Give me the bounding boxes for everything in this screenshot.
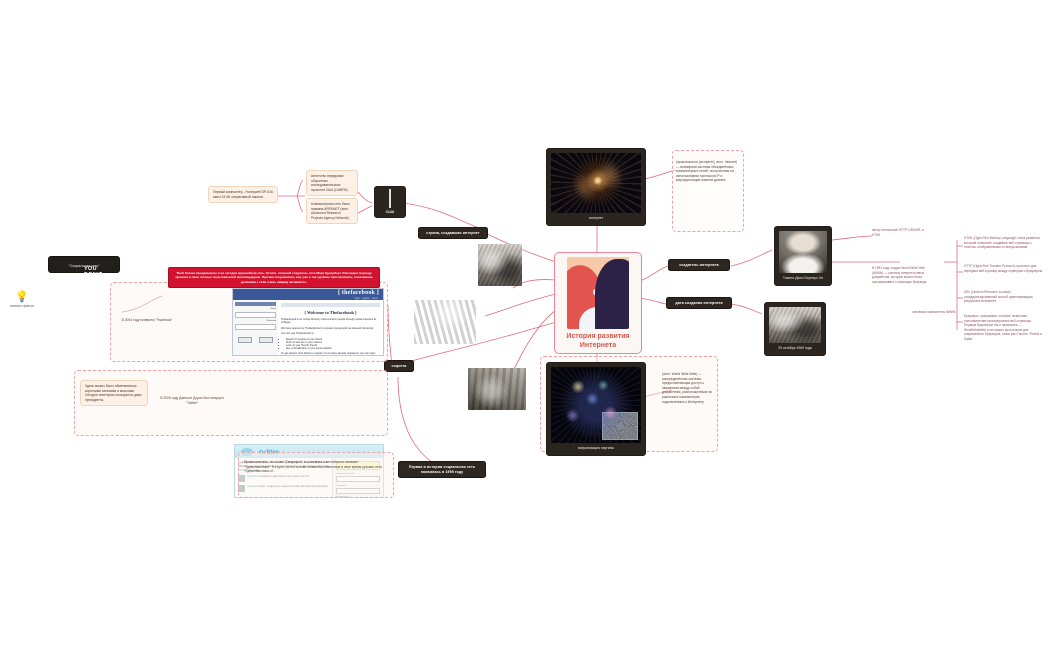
usa-flag-icon: [389, 189, 391, 208]
creator-inventor-note: автор технологий HTTP, URI/URL и HTML: [872, 228, 928, 237]
www-description: (англ. World Wide Web) — распределённая …: [662, 372, 714, 404]
branch-label-country[interactable]: страна, создавшая интернет: [418, 227, 488, 239]
fb-heading: [ Welcome to Thefacebook ]: [281, 310, 380, 315]
network-photo-node[interactable]: визуализация паутины: [546, 362, 646, 456]
lightbulb-icon: 💡: [10, 292, 34, 303]
first-social-note: Примечательно, но слово "Смартфон" в соч…: [244, 460, 386, 474]
fb-paragraph-3: You can use Thefacebook to:: [281, 332, 380, 335]
facebook-note: В 2004 году появился "Facebook": [116, 318, 178, 323]
branch-label-date[interactable]: дата создания интернета: [666, 297, 732, 309]
internet-map-image: [551, 367, 641, 443]
tim-berners-lee-portrait: [779, 231, 827, 273]
facebook-screenshot[interactable]: [ thefacebook ] login · register · about…: [232, 288, 384, 356]
component-browsers: Браузеры, программы, которые позволяют п…: [964, 314, 1044, 342]
network-caption: визуализация паутины: [551, 446, 641, 451]
branch-label-creator[interactable]: создатель интернета: [668, 259, 730, 271]
first-social-frame: [238, 452, 394, 498]
fb-header: [ thefacebook ] login · register · about: [233, 289, 383, 300]
fb-login-button[interactable]: [238, 337, 252, 344]
photo-team-1[interactable]: [478, 244, 522, 286]
blog-note: Здесь можно было обмениваться короткими …: [80, 380, 148, 406]
creator-photo-node[interactable]: Тимоти Джон Бернерс-Ли: [774, 226, 832, 286]
central-illustration: [567, 257, 629, 329]
first-computer-note: Первый компьютер - Honeywell DP-516 имел…: [208, 186, 278, 203]
hint-note: 💡 немного фактов: [10, 292, 34, 308]
social-network-poster[interactable]: YOU DON'T GET TO 500 MILLION FRIENDS WIT…: [48, 256, 120, 273]
internet-description: (произносится [интэрнэ́т], англ. Interne…: [676, 160, 740, 183]
date-photo-node[interactable]: 29 октября 1969 года: [764, 302, 826, 356]
branch-label-socials[interactable]: соцсети: [384, 360, 414, 372]
hint-label: немного фактов: [10, 304, 34, 308]
internet-caption: интернет: [551, 216, 641, 221]
fb-email-input[interactable]: [235, 312, 276, 318]
fb-breadcrumb: [281, 303, 380, 307]
map-inset: [602, 412, 638, 440]
fb-paragraph-1: Thefacebook is an online directory that …: [281, 318, 380, 325]
fb-feature-list: Search for people at your school Find ou…: [286, 338, 380, 351]
component-url: URL (Uniform Resource Locator): стандарт…: [964, 290, 1044, 304]
fb-paragraph-4: To get started, click below to register.…: [281, 352, 380, 355]
usa-note-darpa: Агентство передовых оборонных исследоват…: [306, 170, 358, 196]
fb-wordmark: [ thefacebook ]: [338, 290, 379, 296]
usa-note-arpanet: Компьютерная сеть было названа ARPANET (…: [306, 198, 358, 224]
internet-photo-node[interactable]: интернет: [546, 148, 646, 226]
fb-register-button[interactable]: [259, 337, 273, 344]
arpanet-lab-image: [769, 307, 821, 343]
globe-network-image: [551, 153, 641, 213]
component-http: HTTP (HyperText Transfer Protocol): прот…: [964, 264, 1044, 273]
component-html: HTML (HyperText Markup Language): язык р…: [964, 236, 1044, 250]
date-caption: 29 октября 1969 года: [769, 346, 821, 351]
fb-password-label: Password: [233, 320, 278, 322]
usa-node[interactable]: США: [374, 186, 406, 218]
page-title: История развития Интернета: [559, 332, 637, 350]
usa-caption: США: [378, 210, 402, 214]
fb-login-panel[interactable]: Email Password: [233, 300, 279, 355]
facebook-banner: Твой бизнес продвижение и на сегодня кру…: [168, 267, 380, 288]
people-office-image: [478, 244, 522, 286]
engineers-image: [468, 368, 526, 410]
fb-email-label: Email: [233, 308, 278, 310]
fb-feature-item: See a visualization of your social netwo…: [286, 347, 380, 350]
creator-www-note: В 1991 году создал World Wide Web (WWW) …: [872, 266, 928, 284]
photo-team-3[interactable]: [468, 368, 526, 410]
computer-room-image: [414, 300, 476, 344]
fb-paragraph-2: We have opened up Thefacebook for popula…: [281, 327, 380, 330]
branch-label-first-social[interactable]: Первая в истории социальная сеть появила…: [398, 461, 486, 478]
fb-password-input[interactable]: [235, 324, 276, 330]
components-label: основные компоненты WWW:: [900, 310, 956, 315]
mindmap-canvas: 💡 немного фактов История развития Интерн…: [0, 0, 1050, 650]
fb-content: [ Welcome to Thefacebook ] Thefacebook i…: [278, 300, 383, 355]
central-node[interactable]: История развития Интернета: [554, 252, 642, 354]
creator-caption: Тимоти Джон Бернерс-Ли: [779, 276, 827, 281]
twitter-note: В 2006 году Джексон Дорси был запущен "T…: [156, 396, 228, 405]
photo-team-2[interactable]: [414, 300, 476, 344]
